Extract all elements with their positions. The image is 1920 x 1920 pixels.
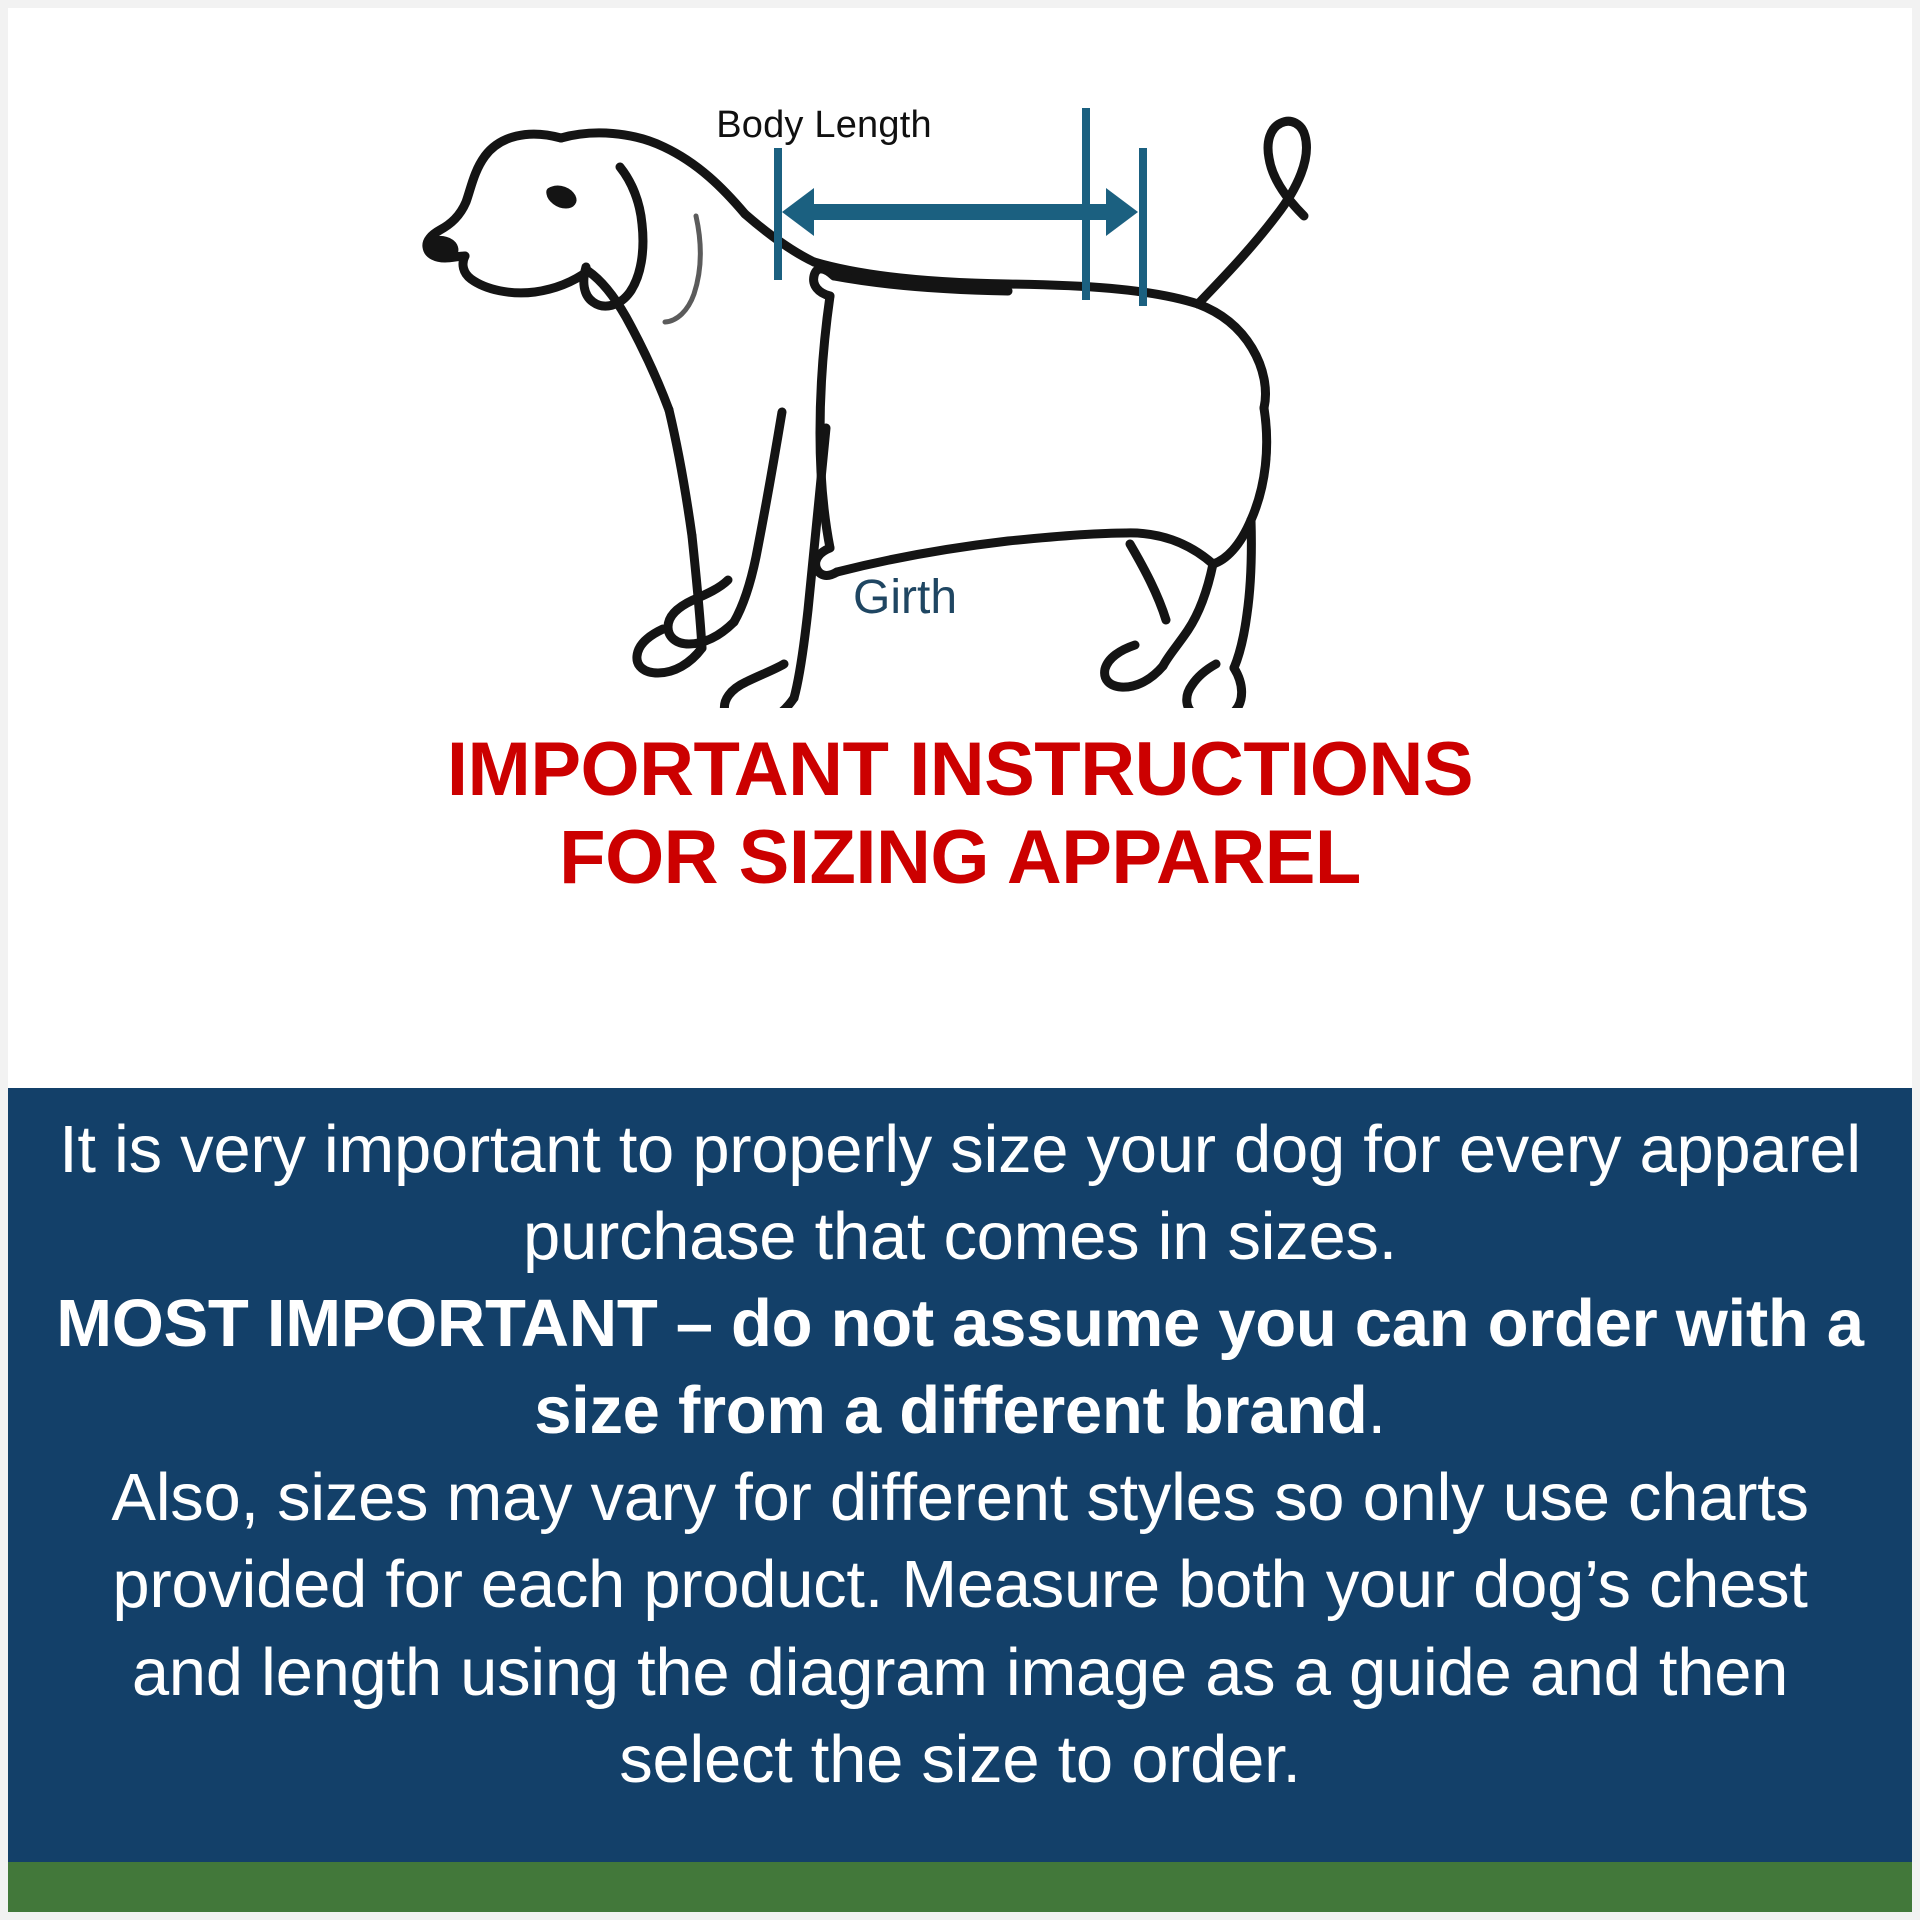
page-title-line-1: IMPORTANT INSTRUCTIONS — [8, 726, 1912, 814]
body-length-label: Body Length — [644, 104, 1004, 147]
girth-label: Girth — [853, 570, 957, 625]
page-title-line-2: FOR SIZING APPAREL — [8, 814, 1912, 902]
content-sheet: Body Length Girth IMPORTANT INSTRUCTIONS… — [8, 8, 1912, 1912]
instructions-text-3: Also, sizes may vary for different style… — [111, 1460, 1808, 1796]
instructions-paragraph-2: MOST IMPORTANT – do not assume you can o… — [54, 1280, 1866, 1454]
green-accent-strip — [8, 1862, 1912, 1912]
instructions-text-2-bold: MOST IMPORTANT – do not assume you can o… — [56, 1286, 1864, 1448]
page-title: IMPORTANT INSTRUCTIONS FOR SIZING APPARE… — [8, 726, 1912, 902]
sizing-instructions-graphic: Body Length Girth IMPORTANT INSTRUCTIONS… — [0, 0, 1920, 1920]
instructions-text-1: It is very important to properly size yo… — [59, 1112, 1861, 1274]
instructions-paragraph-3: Also, sizes may vary for different style… — [54, 1454, 1866, 1802]
instructions-panel: It is very important to properly size yo… — [8, 1088, 1912, 1862]
instructions-text-2-tail: . — [1367, 1373, 1385, 1448]
dog-measurement-diagram: Body Length Girth — [8, 8, 1912, 708]
instructions-paragraph-1: It is very important to properly size yo… — [54, 1106, 1866, 1280]
